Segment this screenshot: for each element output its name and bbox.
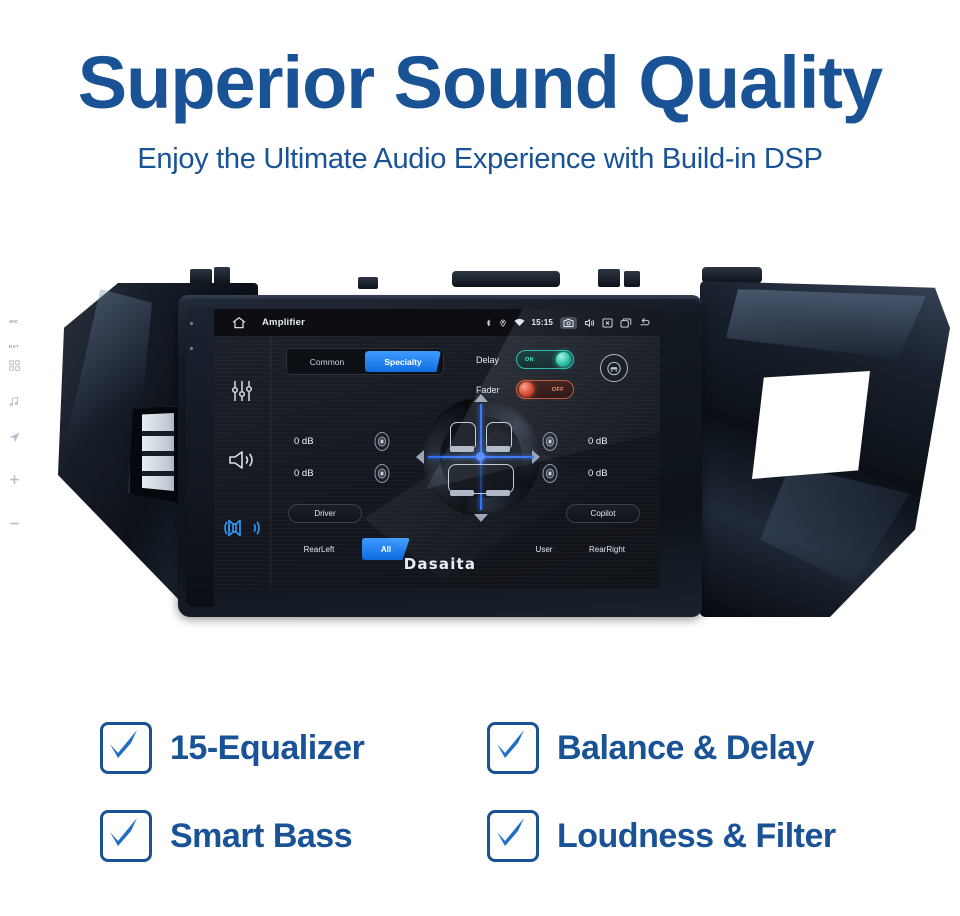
- checkbox-checked-icon: [487, 722, 539, 774]
- app-title: Amplifier: [262, 317, 305, 328]
- home-icon[interactable]: [230, 315, 248, 331]
- touchscreen[interactable]: Amplifier 15:15: [214, 309, 660, 589]
- rst-dot: [190, 347, 193, 350]
- speaker-cone-front-left: [374, 432, 390, 451]
- volume-plus-icon[interactable]: [0, 473, 28, 491]
- speaker-cone-rear-left: [374, 464, 390, 483]
- feature-item: Loudness & Filter: [487, 810, 836, 862]
- seat-base: [450, 490, 474, 496]
- feature-item: 15-Equalizer: [100, 722, 364, 774]
- fader-toggle-row: Fader OFF: [476, 380, 574, 399]
- checkbox-checked-icon: [100, 722, 152, 774]
- feature-label: Loudness & Filter: [557, 817, 836, 856]
- feature-label: Smart Bass: [170, 817, 352, 856]
- eq-mode-tabs: Common Specialty: [286, 348, 444, 375]
- seat-front-right: [486, 422, 512, 448]
- feature-label: 15-Equalizer: [170, 729, 364, 768]
- equalizer-sliders-icon[interactable]: [214, 378, 270, 404]
- car-reset-icon[interactable]: [600, 354, 628, 382]
- toggle-knob: [519, 382, 534, 397]
- cutout-bar: [142, 451, 174, 456]
- feature-label: Balance & Delay: [557, 729, 814, 768]
- tab-common[interactable]: Common: [289, 351, 365, 372]
- camera-icon[interactable]: [560, 317, 577, 329]
- balance-center-dot[interactable]: [476, 452, 485, 461]
- mount-clip: [452, 271, 560, 287]
- cutout-bar: [142, 471, 174, 476]
- checkbox-checked-icon: [100, 810, 152, 862]
- rst-label: RST: [0, 344, 28, 349]
- delay-label: Delay: [476, 355, 516, 365]
- cutout-bar: [142, 431, 174, 436]
- wifi-icon: [514, 318, 525, 327]
- preset-copilot[interactable]: Copilot: [566, 504, 640, 523]
- arrow-left-icon[interactable]: [416, 450, 424, 464]
- level-rear-right[interactable]: 0 dB: [588, 468, 608, 479]
- music-note-icon[interactable]: [0, 395, 28, 413]
- fader-label: Fader: [476, 385, 516, 395]
- level-front-right[interactable]: 0 dB: [588, 436, 608, 447]
- tab-specialty[interactable]: Specialty: [365, 351, 441, 372]
- fader-state-text: OFF: [552, 387, 564, 393]
- feature-list: 15-Equalizer Balance & Delay Smart Bass …: [0, 712, 960, 892]
- speaker-icon[interactable]: [214, 448, 270, 472]
- level-rear-left[interactable]: 0 dB: [294, 468, 314, 479]
- bluetooth-icon: [485, 318, 492, 328]
- balance-speakers-icon[interactable]: [214, 518, 270, 538]
- fader-toggle[interactable]: OFF: [516, 380, 574, 399]
- preset-driver[interactable]: Driver: [288, 504, 362, 523]
- status-bar: Amplifier 15:15: [214, 309, 660, 336]
- brand-logo: Dasaita: [178, 555, 702, 573]
- page-title: Superior Sound Quality: [0, 46, 960, 120]
- apps-grid-icon[interactable]: [0, 359, 28, 377]
- status-clock: 15:15: [532, 318, 553, 327]
- back-icon[interactable]: [639, 318, 651, 328]
- amplifier-panel: Common Specialty Delay ON Fader OFF: [270, 336, 660, 589]
- feature-item: Smart Bass: [100, 810, 352, 862]
- toggle-knob: [556, 352, 571, 367]
- arrow-down-icon[interactable]: [474, 514, 488, 522]
- screen-content: Common Specialty Delay ON Fader OFF: [214, 336, 660, 589]
- mount-clip: [702, 267, 762, 283]
- speaker-cone-rear-right: [542, 464, 558, 483]
- mount-clip: [598, 269, 620, 287]
- mount-clip: [214, 267, 230, 285]
- trim-right-cutout: [752, 371, 870, 479]
- page-subtitle: Enjoy the Ultimate Audio Experience with…: [0, 143, 960, 176]
- mount-clip: [358, 277, 378, 289]
- arrow-up-icon[interactable]: [474, 394, 488, 402]
- seat-front-left: [450, 422, 476, 448]
- delay-state-text: ON: [525, 357, 534, 363]
- feature-item: Balance & Delay: [487, 722, 814, 774]
- checkbox-checked-icon: [487, 810, 539, 862]
- speaker-cone-front-right: [542, 432, 558, 451]
- mic-label: MIC: [0, 319, 28, 324]
- mount-clip: [190, 269, 212, 285]
- product-photo: MIC RST: [0, 255, 960, 645]
- volume-icon[interactable]: [584, 318, 595, 328]
- seat-base: [486, 490, 510, 496]
- delay-toggle[interactable]: ON: [516, 350, 574, 369]
- delay-toggle-row: Delay ON: [476, 350, 574, 369]
- navigation-arrow-icon[interactable]: [0, 431, 28, 449]
- volume-minus-icon[interactable]: [0, 517, 28, 535]
- level-front-left[interactable]: 0 dB: [294, 436, 314, 447]
- location-icon: [499, 318, 507, 328]
- seat-base: [486, 446, 510, 452]
- mount-clip: [624, 271, 640, 287]
- seat-base: [450, 446, 474, 452]
- recents-icon[interactable]: [620, 318, 632, 328]
- mic-dot: [190, 322, 193, 325]
- close-box-icon[interactable]: [602, 318, 613, 328]
- system-tray: 15:15: [485, 317, 651, 329]
